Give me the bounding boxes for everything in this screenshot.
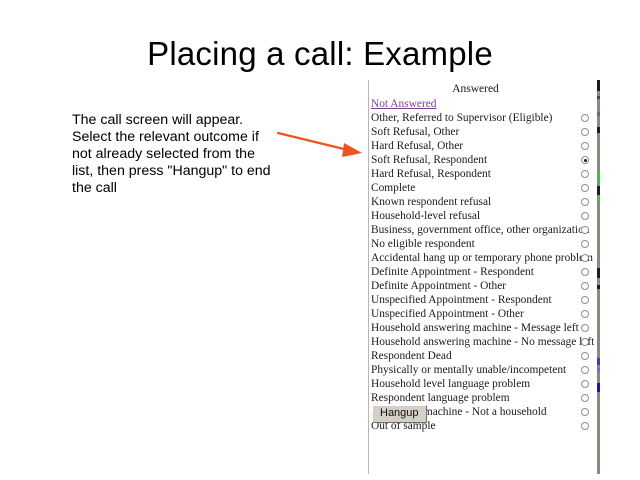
radio-button[interactable] bbox=[581, 142, 589, 150]
outcome-label: Household level language problem bbox=[371, 377, 530, 391]
outcome-label: Household answering machine - No message… bbox=[371, 335, 594, 349]
call-screen-window: Answered Not AnsweredOther, Referred to … bbox=[368, 80, 598, 474]
radio-button[interactable] bbox=[581, 170, 589, 178]
outcome-label: Respondent language problem bbox=[371, 391, 510, 405]
instruction-text: The call screen will appear. Select the … bbox=[72, 112, 277, 197]
radio-button[interactable] bbox=[581, 114, 589, 122]
outcome-label: Household answering machine - Message le… bbox=[371, 321, 579, 335]
radio-button[interactable] bbox=[581, 296, 589, 304]
outcome-label: Soft Refusal, Respondent bbox=[371, 153, 487, 167]
outcome-row[interactable]: Accidental hang up or temporary phone pr… bbox=[370, 251, 596, 265]
not-answered-link[interactable]: Not Answered bbox=[371, 97, 437, 111]
outcome-row[interactable]: Complete bbox=[370, 181, 596, 195]
page-title: Placing a call: Example bbox=[0, 36, 640, 72]
radio-button[interactable] bbox=[581, 254, 589, 262]
annotation-arrow bbox=[270, 120, 370, 164]
radio-button[interactable] bbox=[581, 212, 589, 220]
outcome-label: Hard Refusal, Other bbox=[371, 139, 463, 153]
radio-button-selected[interactable] bbox=[581, 156, 589, 164]
outcome-label: No eligible respondent bbox=[371, 237, 475, 251]
radio-button[interactable] bbox=[581, 366, 589, 374]
outcome-row[interactable]: Unspecified Appointment - Other bbox=[370, 307, 596, 321]
window-edge-mark bbox=[597, 186, 600, 195]
radio-button[interactable] bbox=[581, 240, 589, 248]
outcome-row[interactable]: Definite Appointment - Other bbox=[370, 279, 596, 293]
radio-button[interactable] bbox=[581, 184, 589, 192]
outcome-row[interactable]: Hard Refusal, Respondent bbox=[370, 167, 596, 181]
radio-button[interactable] bbox=[581, 282, 589, 290]
outcome-row[interactable]: Respondent language problem bbox=[370, 391, 596, 405]
outcome-row[interactable]: Not Answered bbox=[370, 97, 596, 111]
outcome-row[interactable]: Household level language problem bbox=[370, 377, 596, 391]
radio-button[interactable] bbox=[581, 422, 589, 430]
window-edge-mark bbox=[597, 80, 600, 91]
arrow-icon bbox=[270, 120, 370, 164]
outcome-label: Soft Refusal, Other bbox=[371, 125, 459, 139]
window-edge-mark bbox=[597, 285, 600, 289]
outcome-row[interactable]: No eligible respondent bbox=[370, 237, 596, 251]
outcome-label: Physically or mentally unable/incompeten… bbox=[371, 363, 566, 377]
window-edge-mark bbox=[597, 195, 600, 201]
outcome-label: Definite Appointment - Respondent bbox=[371, 265, 534, 279]
window-edge-mark bbox=[597, 172, 600, 184]
radio-button[interactable] bbox=[581, 352, 589, 360]
window-edge-mark bbox=[597, 96, 600, 99]
answered-header: Answered bbox=[369, 83, 582, 95]
outcome-label: Accidental hang up or temporary phone pr… bbox=[371, 251, 593, 265]
window-edge-mark bbox=[597, 368, 600, 372]
window-edge-mark bbox=[597, 358, 600, 365]
outcome-row[interactable]: Soft Refusal, Other bbox=[370, 125, 596, 139]
outcome-label: Known respondent refusal bbox=[371, 195, 491, 209]
outcome-row[interactable]: Household answering machine - No message… bbox=[370, 335, 596, 349]
outcome-label: Hard Refusal, Respondent bbox=[371, 167, 491, 181]
radio-button[interactable] bbox=[581, 268, 589, 276]
radio-button[interactable] bbox=[581, 408, 589, 416]
window-edge-mark bbox=[597, 112, 600, 116]
outcome-label: Unspecified Appointment - Other bbox=[371, 307, 524, 321]
radio-button[interactable] bbox=[581, 310, 589, 318]
outcome-row[interactable]: Unspecified Appointment - Respondent bbox=[370, 293, 596, 307]
radio-button[interactable] bbox=[581, 380, 589, 388]
outcome-label: Definite Appointment - Other bbox=[371, 279, 506, 293]
radio-button[interactable] bbox=[581, 128, 589, 136]
radio-button[interactable] bbox=[581, 394, 589, 402]
window-edge-mark bbox=[597, 268, 600, 278]
outcome-row[interactable]: Definite Appointment - Respondent bbox=[370, 265, 596, 279]
hangup-button[interactable]: Hangup bbox=[372, 405, 427, 423]
outcome-row[interactable]: Business, government office, other organ… bbox=[370, 223, 596, 237]
radio-button[interactable] bbox=[581, 198, 589, 206]
outcome-label: Complete bbox=[371, 181, 415, 195]
outcome-label: Unspecified Appointment - Respondent bbox=[371, 293, 552, 307]
outcome-row[interactable]: Other, Referred to Supervisor (Eligible) bbox=[370, 111, 596, 125]
outcome-label: Business, government office, other organ… bbox=[371, 223, 589, 237]
outcome-row[interactable]: Hard Refusal, Other bbox=[370, 139, 596, 153]
window-edge-mark bbox=[597, 383, 600, 392]
outcome-row[interactable]: Household-level refusal bbox=[370, 209, 596, 223]
outcome-label: Household-level refusal bbox=[371, 209, 480, 223]
radio-button[interactable] bbox=[581, 226, 589, 234]
outcome-list[interactable]: Not AnsweredOther, Referred to Superviso… bbox=[370, 97, 596, 433]
outcome-row[interactable]: Soft Refusal, Respondent bbox=[370, 153, 596, 167]
outcome-row[interactable]: Known respondent refusal bbox=[370, 195, 596, 209]
outcome-label: Respondent Dead bbox=[371, 349, 452, 363]
outcome-row[interactable]: Respondent Dead bbox=[370, 349, 596, 363]
outcome-label: Other, Referred to Supervisor (Eligible) bbox=[371, 111, 552, 125]
radio-button[interactable] bbox=[581, 324, 589, 332]
window-edge-mark bbox=[597, 127, 600, 133]
radio-button[interactable] bbox=[581, 338, 589, 346]
outcome-row[interactable]: Physically or mentally unable/incompeten… bbox=[370, 363, 596, 377]
outcome-row[interactable]: Household answering machine - Message le… bbox=[370, 321, 596, 335]
